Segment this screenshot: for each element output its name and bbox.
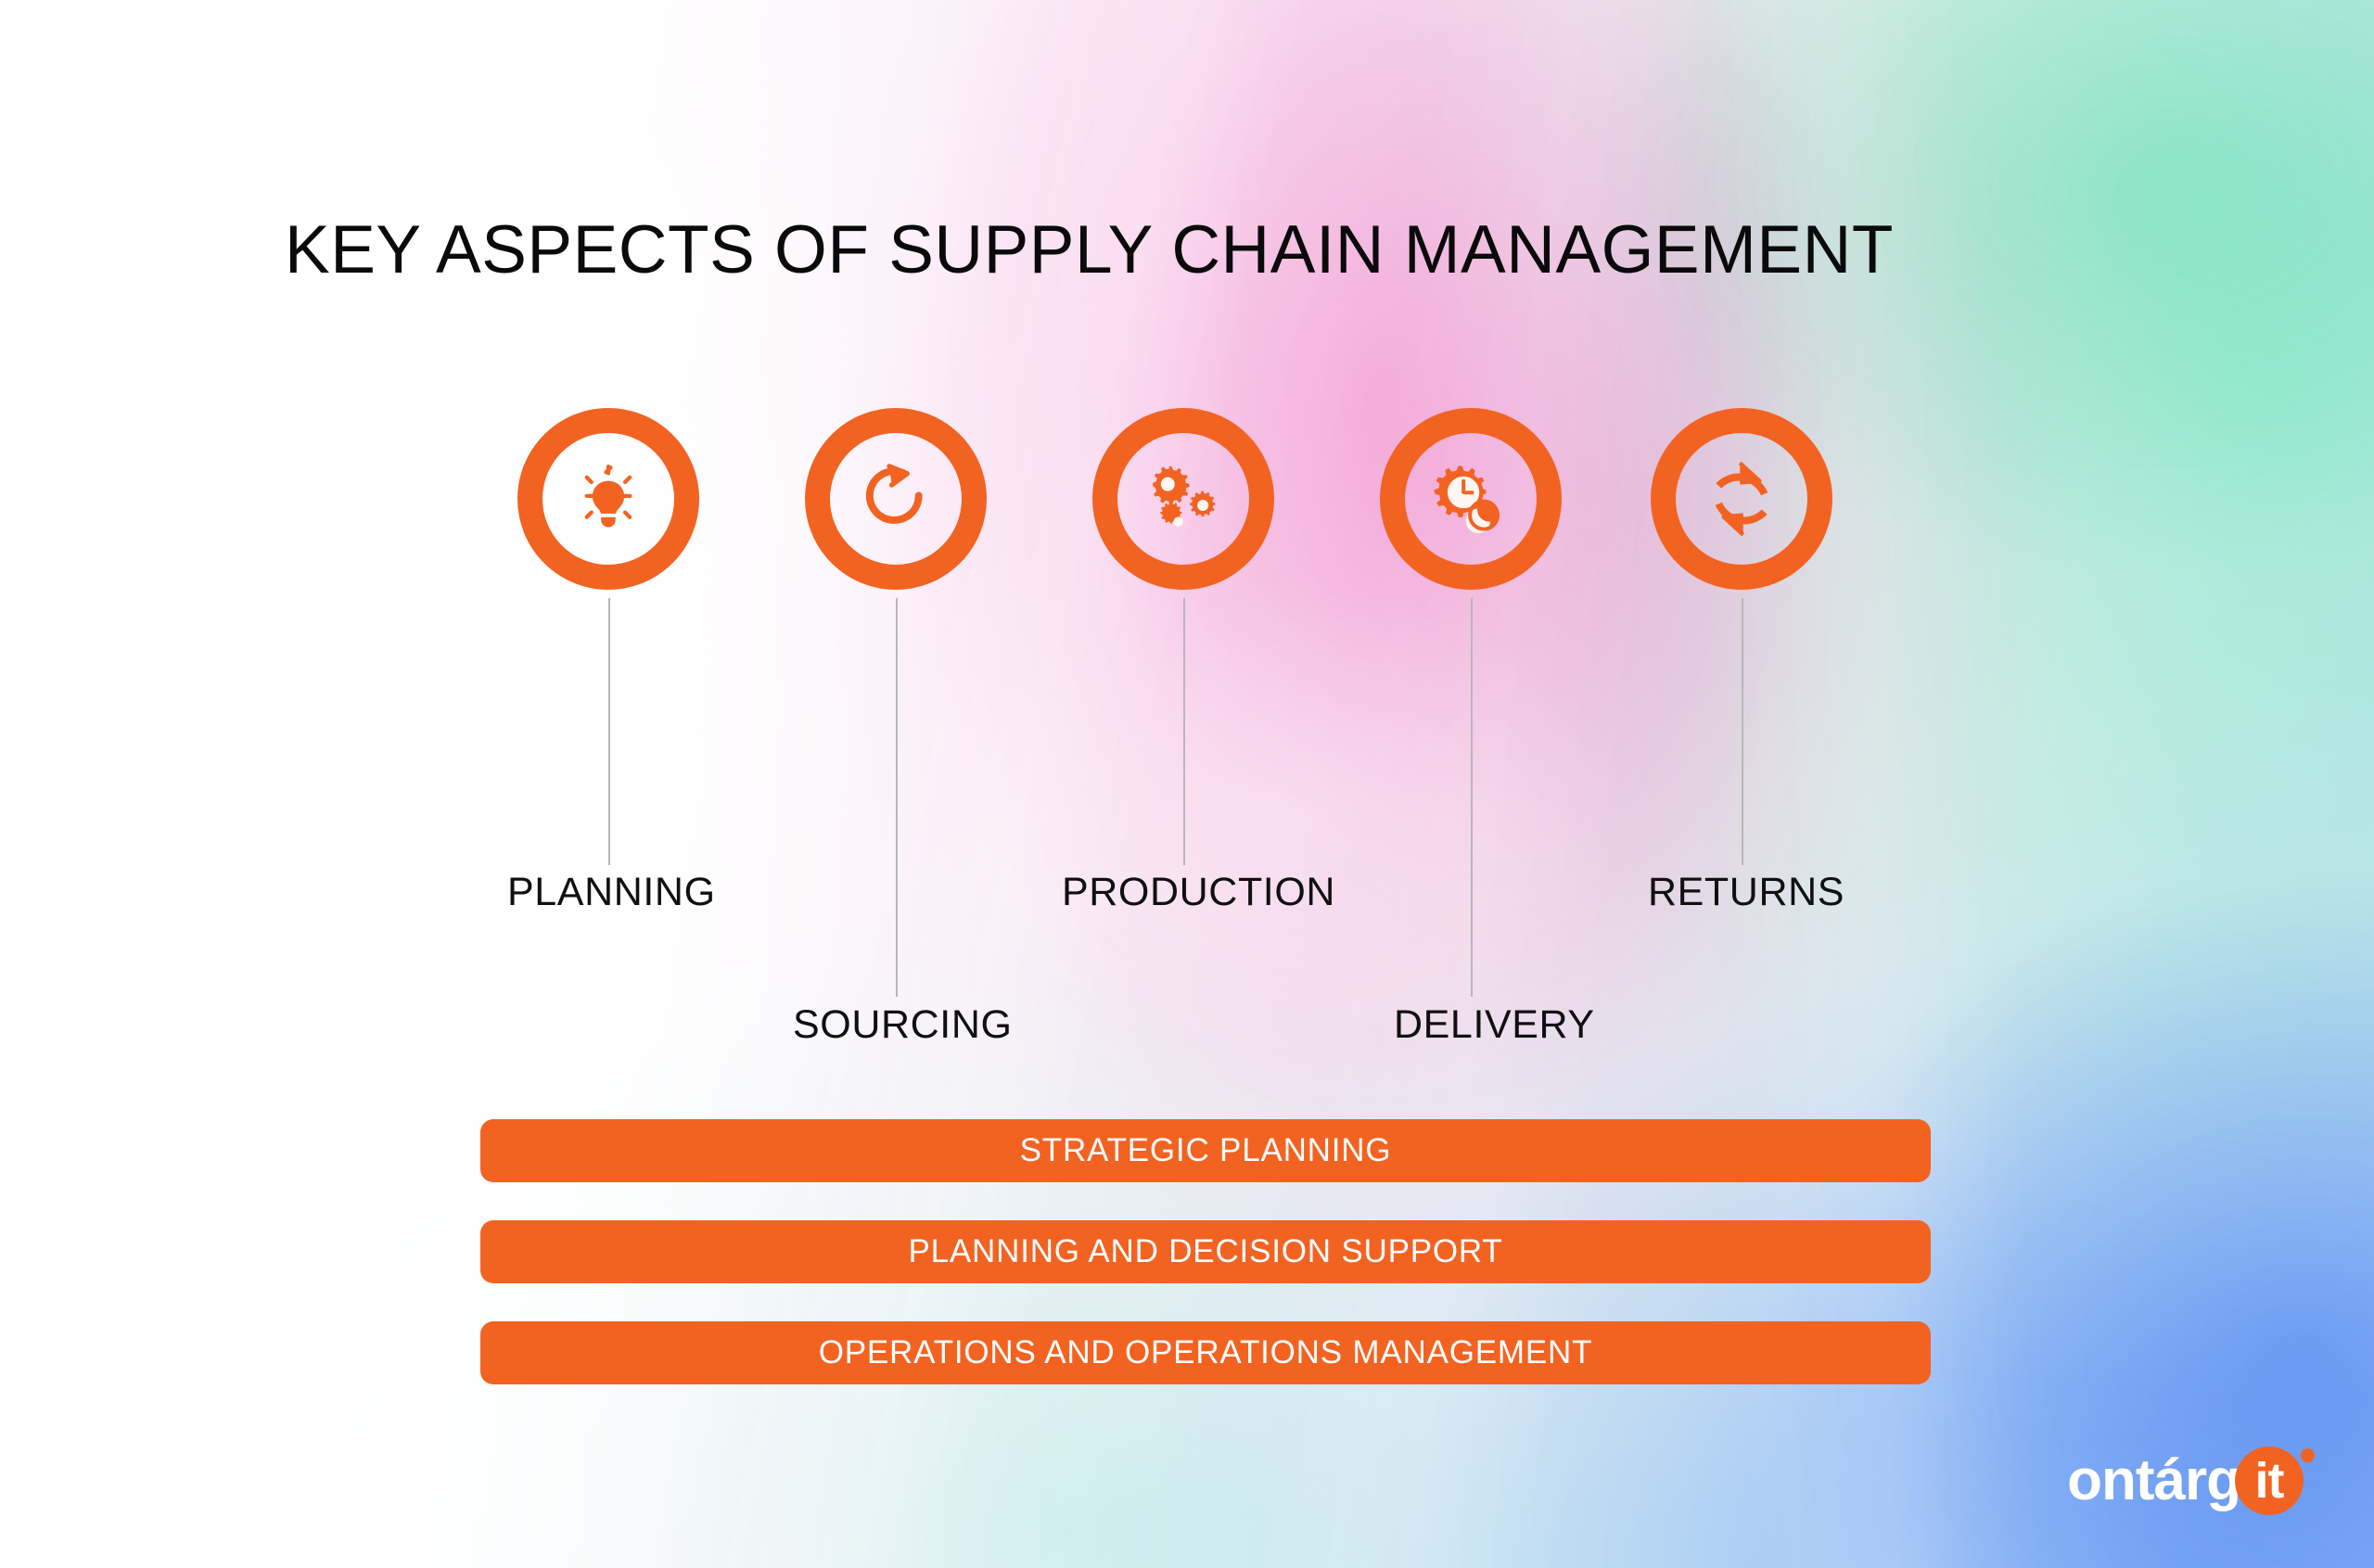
connector-line-sourcing <box>896 598 898 997</box>
summary-bar-label: PLANNING AND DECISION SUPPORT <box>908 1233 1502 1270</box>
summary-bar-label: STRATEGIC PLANNING <box>1020 1132 1392 1169</box>
connector-line-delivery <box>1471 598 1473 997</box>
stage-label-sourcing: SOURCING <box>793 1002 1013 1048</box>
stage-icon-planning[interactable] <box>517 408 699 590</box>
stage-label-production: PRODUCTION <box>1062 870 1335 915</box>
cycle-arrows-icon <box>1701 458 1782 540</box>
stage-icon-sourcing[interactable] <box>805 408 987 590</box>
background-watermark <box>927 575 1632 1057</box>
stage-label-planning: PLANNING <box>507 870 716 915</box>
gears-icon <box>1142 458 1224 540</box>
page-title: KEY ASPECTS OF SUPPLY CHAIN MANAGEMENT <box>285 211 2232 288</box>
stage-icon-delivery[interactable] <box>1380 408 1562 590</box>
stage-label-returns: RETURNS <box>1648 870 1844 915</box>
brand-logo-wordmark: ontárg <box>2067 1452 2240 1510</box>
lightbulb-icon <box>568 458 649 540</box>
brand-logo-badge-text: it <box>2255 1456 2284 1506</box>
summary-bar-operations-management[interactable]: OPERATIONS AND OPERATIONS MANAGEMENT <box>480 1321 1931 1384</box>
brand-logo[interactable]: ontárg it <box>2067 1446 2304 1516</box>
connector-line-returns <box>1742 598 1743 865</box>
connector-line-production <box>1183 598 1185 865</box>
slide-canvas: KEY ASPECTS OF SUPPLY CHAIN MANAGEMENT <box>0 0 2374 1568</box>
stage-icon-returns[interactable] <box>1651 408 1832 590</box>
summary-bar-planning-decision-support[interactable]: PLANNING AND DECISION SUPPORT <box>480 1220 1931 1283</box>
brand-logo-dot <box>2301 1448 2315 1462</box>
gear-clock-icon <box>1430 458 1512 540</box>
connector-line-planning <box>608 598 610 865</box>
summary-bar-strategic-planning[interactable]: STRATEGIC PLANNING <box>480 1119 1931 1182</box>
stage-icon-production[interactable] <box>1092 408 1274 590</box>
summary-bar-label: OPERATIONS AND OPERATIONS MANAGEMENT <box>819 1334 1593 1371</box>
brand-logo-badge: it <box>2235 1447 2304 1515</box>
stage-label-delivery: DELIVERY <box>1394 1002 1595 1048</box>
refresh-arrow-icon <box>855 458 937 540</box>
